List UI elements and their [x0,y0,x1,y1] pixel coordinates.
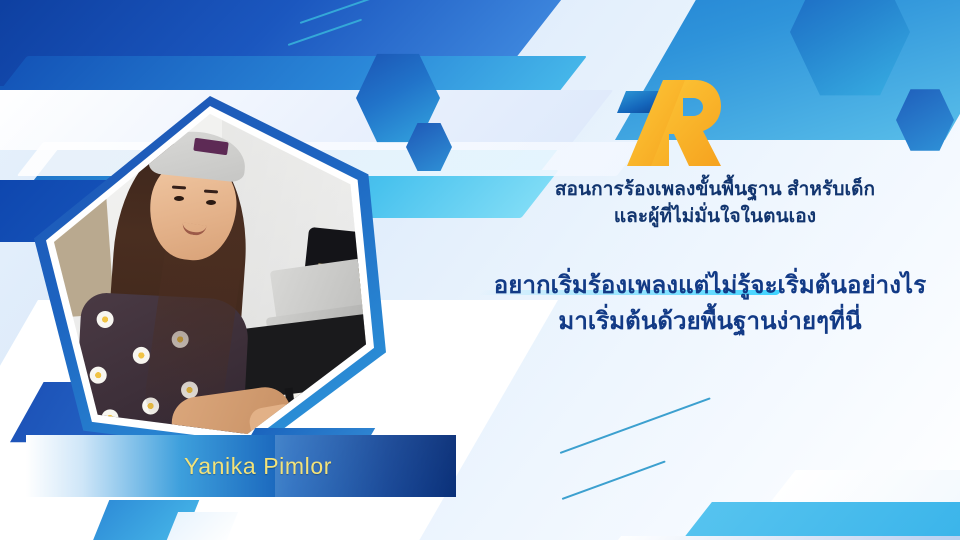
presenter-name-banner: Yanika Pimlor [26,435,456,497]
photo-daisy [89,366,107,384]
decorative-band [668,502,960,540]
promo-banner-canvas: Yanika Pimlor [0,0,960,540]
letter-r-logo-icon [617,74,721,172]
subhead-line-1: อยากเริ่มร้องเพลงแต่ไม่รู้จะเริ่มต้นอย่า… [470,268,950,304]
decorative-band [579,536,960,540]
presenter-name: Yanika Pimlor [26,435,456,497]
decorative-sweep [0,90,613,150]
photo-daisy [96,311,114,329]
photo-daisy [132,346,150,364]
photo-eye [174,196,184,201]
headline-line-2: และผู้ที่ไม่มั่นใจในตนเอง [480,203,950,230]
photo-eye [206,200,216,205]
headline-text: สอนการร้องเพลงขั้นพื้นฐาน สำหรับเด็ก และ… [480,176,950,231]
headline-line-1: สอนการร้องเพลงขั้นพื้นฐาน สำหรับเด็ก [480,176,950,203]
subhead-line-2: มาเริ่มต้นด้วยพื้นฐานง่ายๆที่นี่ [470,304,950,340]
subhead-text: อยากเริ่มร้องเพลงแต่ไม่รู้จะเริ่มต้นอย่า… [470,268,950,341]
